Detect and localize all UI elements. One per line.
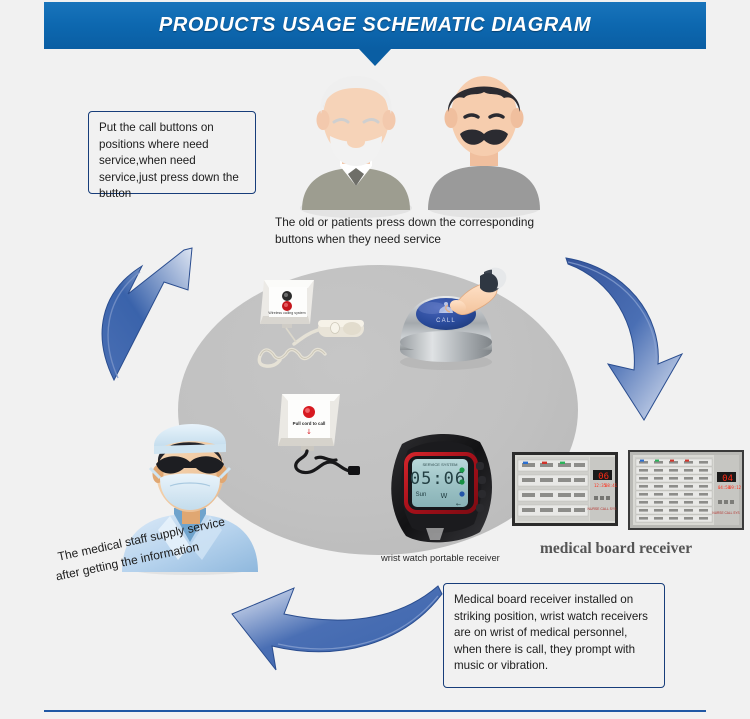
svg-text:09:12: 09:12	[729, 485, 742, 490]
avatar-elderly-man	[296, 62, 416, 210]
arrow-up-right-icon	[88, 240, 204, 380]
svg-text:08:41: 08:41	[605, 483, 618, 488]
watch-indicator-blue	[459, 491, 464, 496]
callout-call-buttons: Put the call buttons on positions where …	[88, 111, 256, 194]
watch-time: 05:06	[410, 469, 466, 489]
bell-call-label: CALL	[436, 318, 456, 324]
call-bell-device: CALL	[388, 266, 512, 372]
board-small-footer: NURSE CALL SYS	[588, 507, 618, 511]
board-large-footer: NURSE CALL SYS	[712, 511, 739, 515]
watch-day: Sun	[416, 492, 427, 498]
watch-indicator-green-2	[459, 479, 464, 484]
arrow-down-icon	[566, 246, 706, 426]
wall-button-label: Wireless calling system	[268, 311, 305, 315]
pull-cord-call-button: Pull cord to call ↓	[272, 392, 370, 484]
watch-status-row: SERVICE SYSTEM	[422, 462, 457, 467]
footer-divider	[44, 710, 706, 712]
board-small-led: 06	[598, 472, 609, 482]
watch-back-icon: ←	[456, 501, 461, 508]
wireless-calling-wall-button: Wireless calling system	[248, 278, 374, 374]
avatar-young-man	[424, 62, 544, 210]
watch-signal-icon: W	[441, 492, 448, 500]
watch-indicator-green	[459, 467, 464, 472]
watch-caption: wrist watch portable receiver	[381, 552, 500, 563]
pull-cord-label: Pull cord to call	[293, 421, 326, 426]
board-caption: medical board receiver	[540, 540, 692, 558]
patients-group	[296, 62, 548, 210]
page-title: PRODUCTS USAGE SCHEMATIC DIAGRAM	[159, 14, 591, 37]
diagram-canvas: PRODUCTS USAGE SCHEMATIC DIAGRAM	[0, 0, 750, 719]
board-large-led: 04	[722, 474, 733, 484]
wrist-watch-receiver: SERVICE SYSTEM 05:06 Sun W ←	[384, 428, 502, 542]
header-banner: PRODUCTS USAGE SCHEMATIC DIAGRAM	[44, 2, 706, 49]
medical-board-receiver-small: 06 12:3508:41 NURSE CALL SYS	[512, 452, 618, 526]
down-arrow-icon: ↓	[306, 428, 312, 436]
patients-caption: The old or patients press down the corre…	[275, 214, 575, 247]
callout-board-receiver: Medical board receiver installed on stri…	[443, 583, 665, 688]
medical-board-receiver-large: 04 04:5809:12 NURSE CALL SYS	[628, 450, 744, 530]
arrow-left-icon	[228, 578, 444, 690]
